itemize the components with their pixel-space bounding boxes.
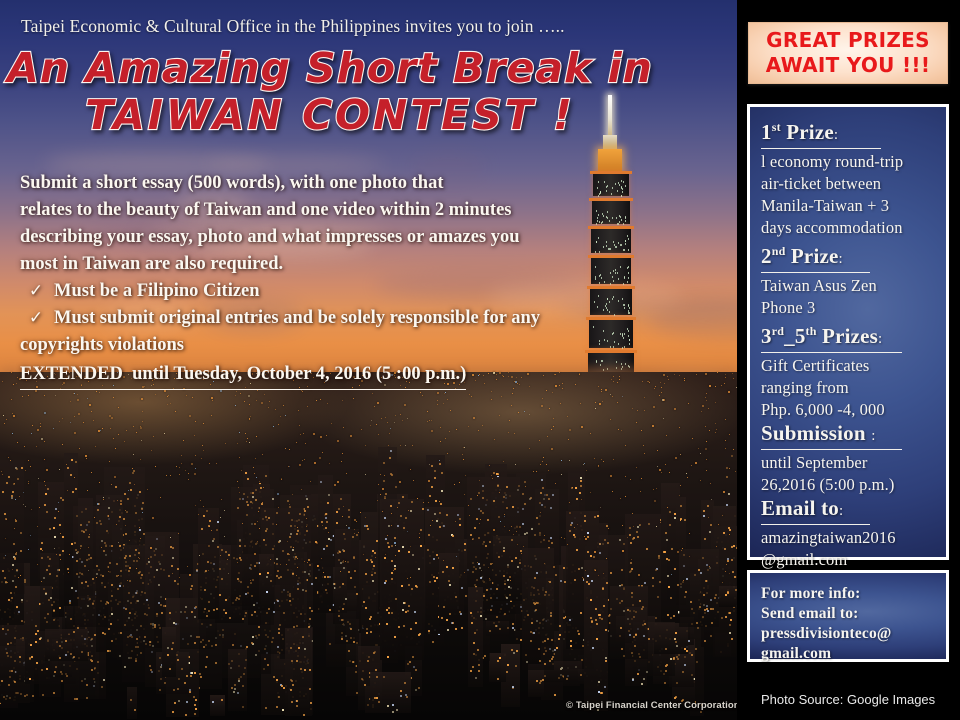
- building-window: [54, 671, 56, 673]
- building-window: [209, 520, 211, 522]
- building-window: [146, 599, 148, 601]
- building-window: [410, 510, 412, 512]
- city-light: [413, 480, 414, 481]
- building-window: [232, 644, 234, 646]
- city-light: [37, 526, 38, 527]
- building-window: [366, 628, 368, 630]
- city-light: [175, 411, 176, 412]
- building-window: [139, 571, 141, 573]
- building-window: [707, 610, 709, 612]
- building-window: [606, 525, 608, 527]
- city-light: [289, 449, 290, 450]
- tower-window: [624, 307, 625, 309]
- building-window: [526, 532, 528, 534]
- city-light: [11, 399, 12, 400]
- city-light: [437, 404, 438, 405]
- building-window: [15, 520, 17, 522]
- tower-window: [629, 312, 630, 314]
- building-window: [340, 498, 342, 500]
- building-window: [136, 560, 138, 562]
- building-window: [664, 551, 666, 553]
- city-light: [701, 411, 702, 412]
- building: [318, 475, 333, 613]
- building-window: [119, 655, 121, 657]
- city-light: [28, 460, 29, 461]
- city-light: [283, 405, 284, 406]
- building-window: [111, 595, 113, 597]
- city-light: [24, 446, 25, 447]
- building-window: [237, 507, 239, 509]
- building-window: [584, 520, 586, 522]
- prize-heading-3rd-5th: 3rd_5th Prizes:: [761, 319, 937, 351]
- building-window: [60, 497, 62, 499]
- building-window: [598, 681, 600, 683]
- building-window: [605, 660, 607, 662]
- prize-1-line-2: air-ticket between: [761, 173, 937, 195]
- building-window: [702, 557, 704, 559]
- city-light: [102, 428, 103, 429]
- prize-1-ordinal: st: [772, 120, 781, 134]
- building-window: [311, 583, 313, 585]
- tower-window: [629, 343, 630, 345]
- building-window: [108, 507, 110, 509]
- building-window: [19, 656, 21, 658]
- city-light: [44, 412, 46, 414]
- city-light: [632, 513, 633, 514]
- city-light: [151, 450, 152, 451]
- city-light: [3, 415, 4, 416]
- building-window: [129, 612, 131, 614]
- city-light: [160, 497, 161, 498]
- city-light: [454, 484, 455, 485]
- building-window: [276, 512, 278, 514]
- city-light: [326, 435, 327, 436]
- building-window: [308, 573, 310, 575]
- building-window: [194, 616, 196, 618]
- city-light: [170, 403, 171, 404]
- tower-window: [615, 272, 616, 274]
- city-light: [118, 407, 119, 408]
- city-light: [644, 397, 645, 398]
- city-light: [299, 464, 301, 466]
- building-window: [364, 525, 366, 527]
- city-light: [141, 398, 143, 400]
- city-light: [644, 410, 645, 411]
- city-light: [208, 545, 210, 547]
- city-light: [567, 416, 568, 417]
- building-window: [86, 697, 88, 699]
- city-light: [155, 394, 156, 395]
- city-light: [273, 426, 274, 427]
- city-light: [601, 391, 602, 392]
- building-window: [732, 571, 734, 573]
- building-window: [432, 641, 434, 643]
- building-window: [714, 597, 716, 599]
- building-window: [631, 592, 633, 594]
- city-light: [548, 581, 549, 582]
- building-window: [354, 586, 356, 588]
- city-light: [642, 381, 643, 382]
- city-light: [248, 395, 250, 397]
- building-window: [394, 565, 396, 567]
- building-window: [101, 540, 103, 542]
- city-light: [511, 405, 512, 406]
- building-window: [610, 572, 612, 574]
- city-light: [407, 418, 408, 419]
- requirement-item: ✓ Must be a Filipino Citizen: [26, 278, 600, 305]
- email-details[interactable]: amazingtaiwan2016 @gmail.com: [761, 527, 937, 571]
- detail-line-3: describing your essay, photo and what im…: [20, 224, 600, 251]
- tower-window: [609, 301, 610, 303]
- building: [522, 548, 554, 670]
- building-window: [405, 517, 407, 519]
- building-window: [396, 709, 398, 711]
- building-window: [137, 646, 139, 648]
- city-light: [58, 502, 59, 503]
- building-window: [540, 492, 542, 494]
- building-window: [395, 598, 397, 600]
- tower-window: [624, 346, 625, 348]
- building-window: [586, 581, 588, 583]
- city-light: [22, 396, 23, 397]
- building-window: [212, 540, 214, 542]
- city-light: [390, 428, 391, 429]
- building-window: [276, 558, 278, 560]
- city-light: [224, 536, 225, 537]
- building-window: [196, 636, 198, 638]
- building-window: [390, 505, 392, 507]
- city-light: [62, 444, 63, 445]
- building-window: [59, 657, 61, 659]
- building-window: [185, 606, 187, 608]
- building-window: [11, 670, 13, 672]
- building-window: [404, 602, 406, 604]
- city-light: [412, 445, 413, 446]
- building-window: [261, 503, 263, 505]
- contest-details: Submit a short essay (500 words), with o…: [20, 170, 600, 390]
- contact-email-line-2[interactable]: gmail.com: [761, 644, 937, 664]
- city-light: [620, 498, 621, 499]
- prize-3-word: Prizes: [822, 324, 878, 348]
- building-window: [405, 611, 407, 613]
- tower-window: [607, 211, 608, 213]
- requirement-text: Must submit original entries and be sole…: [54, 305, 600, 332]
- city-light: [718, 524, 719, 525]
- city-light: [644, 453, 645, 454]
- city-light: [304, 561, 305, 562]
- city-light: [674, 374, 675, 375]
- building-window: [198, 636, 200, 638]
- building-window: [485, 618, 487, 620]
- building-window: [440, 503, 442, 505]
- city-light: [610, 419, 611, 420]
- prize-3-line-2: ranging from: [761, 377, 937, 399]
- tower-window: [607, 185, 608, 187]
- city-light: [235, 395, 236, 396]
- building-window: [7, 655, 9, 657]
- building-window: [9, 676, 11, 678]
- building-window: [158, 584, 160, 586]
- building-window: [37, 630, 39, 632]
- building: [127, 687, 138, 719]
- tower-window: [613, 296, 614, 298]
- city-light: [617, 382, 618, 383]
- city-light: [328, 532, 329, 533]
- building-window: [158, 602, 160, 604]
- building-window: [434, 580, 436, 582]
- city-light: [377, 500, 378, 501]
- building-window: [420, 529, 422, 531]
- city-light: [59, 421, 60, 422]
- city-light: [317, 565, 319, 567]
- city-light: [2, 381, 3, 382]
- city-light: [649, 382, 650, 383]
- city-light: [303, 433, 304, 434]
- building-window: [550, 615, 552, 617]
- detail-line-4: most in Taiwan are also required.: [20, 251, 600, 278]
- city-light: [663, 399, 665, 401]
- city-light: [427, 421, 428, 422]
- city-light: [313, 433, 315, 435]
- building-window: [403, 527, 405, 529]
- building: [122, 545, 155, 682]
- building-window: [511, 560, 513, 562]
- city-light: [462, 454, 463, 455]
- city-light: [500, 521, 501, 522]
- city-light: [724, 383, 725, 384]
- building-window: [408, 605, 410, 607]
- city-light: [489, 465, 490, 466]
- building-window: [652, 585, 654, 587]
- building-window: [675, 632, 677, 634]
- email-address-line-2[interactable]: @gmail.com: [761, 549, 937, 571]
- building-window: [290, 679, 292, 681]
- building-window: [418, 687, 420, 689]
- building-window: [366, 559, 368, 561]
- city-light: [391, 513, 392, 514]
- city-light: [529, 448, 530, 449]
- divider: [761, 352, 902, 353]
- city-light: [715, 386, 716, 387]
- building-window: [141, 508, 143, 510]
- building-window: [676, 682, 678, 684]
- email-address-line-1[interactable]: amazingtaiwan2016: [761, 527, 937, 549]
- building-window: [587, 575, 589, 577]
- building-window: [418, 634, 420, 636]
- building-window: [15, 586, 17, 588]
- building-window: [633, 616, 635, 618]
- building-window: [449, 613, 451, 615]
- building-window: [291, 701, 293, 703]
- building-window: [588, 583, 590, 585]
- tower-window: [616, 217, 617, 219]
- tower-window: [606, 307, 607, 309]
- building: [162, 627, 176, 677]
- city-light: [17, 377, 18, 378]
- city-light: [687, 477, 688, 478]
- tower-window: [614, 341, 615, 343]
- city-light: [387, 422, 388, 423]
- building-window: [433, 558, 435, 560]
- requirement-item: ✓ Must submit original entries and be so…: [26, 305, 600, 332]
- city-light: [430, 525, 431, 526]
- building-window: [644, 582, 646, 584]
- building-window: [370, 616, 372, 618]
- city-light: [239, 457, 240, 458]
- building-window: [395, 486, 397, 488]
- building-window: [6, 652, 8, 654]
- city-light: [264, 394, 265, 395]
- city-light: [601, 389, 602, 390]
- city-light: [555, 483, 556, 484]
- building-window: [712, 608, 714, 610]
- building-window: [35, 641, 37, 643]
- city-light: [203, 515, 204, 516]
- building-window: [265, 516, 267, 518]
- building-window: [389, 457, 391, 459]
- building-window: [159, 689, 161, 691]
- city-light: [25, 470, 26, 471]
- building-window: [670, 617, 672, 619]
- city-light: [189, 415, 191, 417]
- city-light: [79, 448, 80, 449]
- city-light: [225, 443, 226, 444]
- building-window: [70, 618, 72, 620]
- building-window: [74, 698, 76, 700]
- building-window: [189, 691, 191, 693]
- building-window: [292, 573, 294, 575]
- building: [285, 628, 312, 717]
- building-window: [728, 612, 730, 614]
- building-window: [250, 582, 252, 584]
- city-light: [394, 422, 395, 423]
- city-light: [664, 383, 665, 384]
- requirement-text: Must be a Filipino Citizen: [54, 278, 600, 305]
- building-window: [569, 619, 571, 621]
- tower-window: [609, 220, 610, 222]
- building-window: [135, 592, 137, 594]
- building-window: [290, 546, 292, 548]
- building-window: [508, 586, 510, 588]
- building-window: [691, 654, 693, 656]
- building-window: [1, 680, 3, 682]
- building-window: [365, 607, 367, 609]
- building-window: [242, 498, 244, 500]
- building-window: [124, 624, 126, 626]
- city-light: [590, 492, 591, 493]
- building-window: [142, 502, 144, 504]
- city-light: [211, 530, 212, 531]
- building-window: [595, 619, 597, 621]
- building-window: [384, 557, 386, 559]
- building-window: [524, 481, 526, 483]
- contact-email-line-1[interactable]: pressdivisionteco@: [761, 624, 937, 644]
- building-window: [348, 571, 350, 573]
- tower-crown: [598, 149, 622, 171]
- city-light: [164, 390, 166, 392]
- city-light: [285, 415, 286, 416]
- building-window: [499, 657, 501, 659]
- building-window: [336, 511, 338, 513]
- building-window: [549, 660, 551, 662]
- building-window: [307, 506, 309, 508]
- building-window: [702, 616, 704, 618]
- tower-window: [607, 217, 608, 219]
- city-light: [185, 470, 186, 471]
- building-window: [715, 594, 717, 596]
- city-light: [111, 417, 113, 419]
- building-window: [348, 509, 350, 511]
- building-window: [238, 598, 240, 600]
- city-light: [299, 425, 300, 426]
- building-window: [247, 478, 249, 480]
- city-light: [221, 499, 222, 500]
- building-window: [46, 569, 48, 571]
- city-light: [661, 387, 662, 388]
- building-window: [597, 515, 599, 517]
- city-light: [297, 527, 298, 528]
- building-window: [384, 582, 386, 584]
- building-window: [621, 648, 623, 650]
- building-window: [302, 636, 304, 638]
- city-light: [12, 569, 13, 570]
- tower-window: [604, 281, 605, 283]
- tower-window: [612, 298, 613, 300]
- building-window: [49, 573, 51, 575]
- building-window: [367, 660, 369, 662]
- building: [719, 586, 737, 608]
- building-window: [18, 611, 20, 613]
- building-window: [433, 576, 435, 578]
- building-window: [442, 571, 444, 573]
- tower-window: [603, 330, 604, 332]
- tower-window: [602, 213, 603, 215]
- building-window: [434, 470, 436, 472]
- building-window: [336, 522, 338, 524]
- tower-window: [621, 244, 622, 246]
- building-window: [402, 496, 404, 498]
- city-light: [192, 397, 193, 398]
- tower-window: [615, 269, 616, 271]
- building-window: [639, 656, 641, 658]
- building-window: [605, 657, 607, 659]
- prize-1-colon: :: [834, 127, 838, 143]
- city-light: [553, 566, 555, 568]
- city-light: [244, 401, 245, 402]
- building-window: [76, 560, 78, 562]
- building-window: [203, 646, 205, 648]
- city-light: [108, 571, 109, 572]
- city-light: [437, 392, 439, 394]
- building-window: [71, 543, 73, 545]
- building-window: [191, 672, 193, 674]
- building-window: [542, 487, 544, 489]
- building-window: [107, 650, 109, 652]
- city-light: [236, 391, 237, 392]
- city-light: [595, 402, 596, 403]
- building-window: [88, 521, 90, 523]
- checkmark-icon: ✓: [26, 305, 46, 332]
- building-window: [250, 501, 252, 503]
- city-light: [115, 448, 116, 449]
- city-light: [74, 432, 76, 434]
- detail-line-2: relates to the beauty of Taiwan and one …: [20, 197, 600, 224]
- city-light: [696, 374, 697, 375]
- building-window: [391, 545, 393, 547]
- building-window: [599, 614, 601, 616]
- city-light: [725, 571, 726, 572]
- building-window: [104, 586, 106, 588]
